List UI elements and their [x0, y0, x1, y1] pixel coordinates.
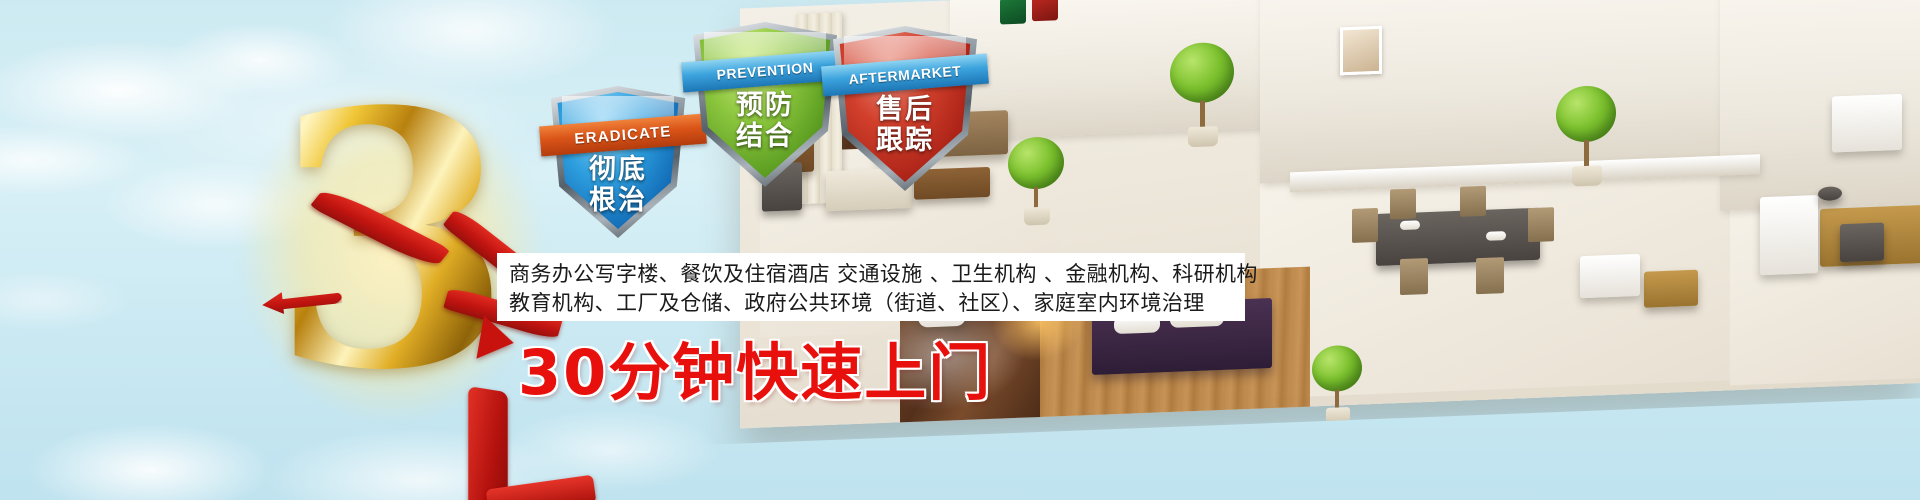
plant-foliage	[1312, 345, 1362, 393]
red-ribbon-tail	[468, 386, 508, 500]
dining-chair	[1528, 207, 1554, 242]
plant-pot	[1024, 207, 1050, 226]
wall-dining-back	[1260, 0, 1740, 183]
potted-plant	[1008, 136, 1068, 228]
table-plate	[1400, 220, 1420, 230]
dining-chair	[1476, 257, 1504, 294]
refrigerator	[1760, 195, 1818, 275]
potted-plant	[1170, 41, 1240, 154]
shield-badge-aftermarket: AFTERMARKET 售后 跟踪	[830, 26, 980, 191]
bedroom-nightstand	[1580, 254, 1640, 298]
plant-foliage	[1170, 41, 1234, 103]
promo-banner: 3 ERADICATE 彻底 根治 PREVENTION 预防 结合	[0, 0, 1920, 500]
shield-chinese-line1: 预防	[690, 90, 840, 121]
shield-chinese-line1: 售后	[830, 94, 980, 125]
shield-chinese-label: 售后 跟踪	[830, 94, 980, 156]
service-scope-panel: 商务办公写字楼、餐饮及住宿酒店 交通设施 、卫生机构 、金融机构、科研机构 教育…	[497, 253, 1245, 321]
dining-chair	[1352, 208, 1378, 243]
plant-pot	[1188, 126, 1218, 147]
plant-pot	[1572, 165, 1602, 186]
plant-foliage	[1008, 136, 1064, 190]
shield-chinese-line2: 跟踪	[830, 125, 980, 156]
sideboard	[1644, 270, 1698, 308]
shield-chinese-label: 预防 结合	[690, 90, 840, 152]
table-plate	[1486, 231, 1506, 241]
service-scope-line-2: 教育机构、工厂及仓储、政府公共环境（街道、社区）、家庭室内环境治理	[509, 289, 1235, 318]
shield-english-label: ERADICATE	[574, 123, 672, 148]
shield-chinese-line2: 根治	[548, 185, 688, 216]
framed-picture	[1340, 26, 1382, 76]
shield-badge-prevention: PREVENTION 预防 结合	[690, 22, 840, 187]
wall-art-red	[1032, 0, 1058, 21]
plant-foliage	[1556, 85, 1616, 143]
shield-english-label: PREVENTION	[716, 59, 814, 83]
wall-art-green	[1000, 0, 1026, 24]
kitchen-wall-cabinet	[1832, 94, 1902, 153]
headline-text: 30分钟快速上门	[518, 338, 992, 408]
shield-chinese-line1: 彻底	[548, 154, 688, 185]
dining-chair	[1400, 258, 1428, 295]
oven	[1840, 223, 1884, 263]
shield-chinese-line2: 结合	[690, 121, 840, 152]
potted-plant	[1556, 85, 1618, 193]
dining-chair	[1390, 188, 1416, 219]
shield-chinese-label: 彻底 根治	[548, 154, 688, 216]
shield-badge-eradicate: ERADICATE 彻底 根治	[548, 86, 688, 238]
shield-english-label: AFTERMARKET	[848, 63, 962, 88]
service-scope-line-1: 商务办公写字楼、餐饮及住宿酒店 交通设施 、卫生机构 、金融机构、科研机构	[509, 260, 1235, 289]
potted-plant	[1312, 344, 1366, 430]
dining-chair	[1460, 186, 1486, 217]
